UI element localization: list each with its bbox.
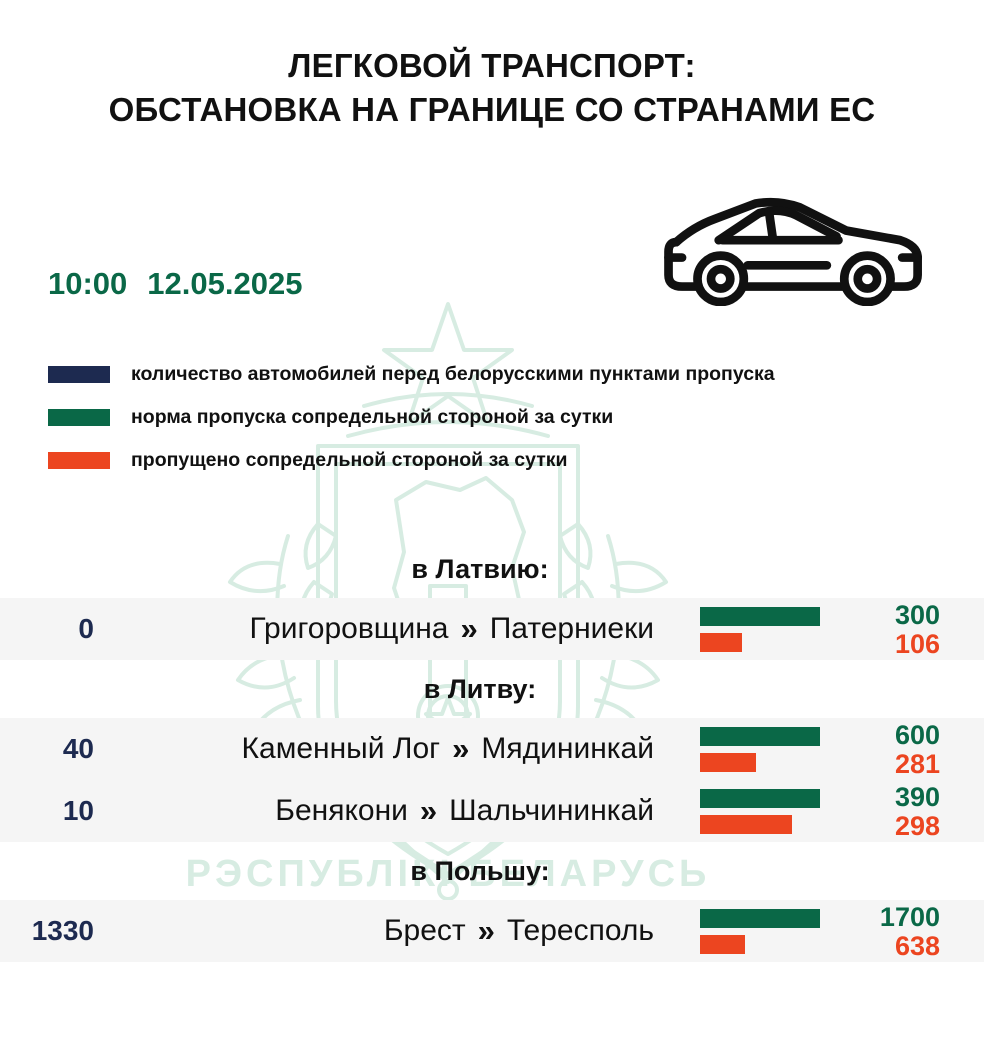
norm-value: 300 [860, 601, 940, 629]
passed-value: 638 [860, 932, 940, 960]
car-icon [655, 186, 935, 306]
route-to: Шальчининкай [449, 794, 654, 828]
passed-bar [700, 815, 792, 834]
row-bars [700, 789, 860, 834]
row-values: 1700638 [860, 903, 984, 960]
passed-value: 281 [860, 750, 940, 778]
passed-bar [700, 633, 742, 652]
double-chevron-right-icon: » [460, 612, 477, 646]
timestamp: 10:0012.05.2025 [48, 266, 302, 302]
timestamp-date: 12.05.2025 [147, 266, 302, 301]
route-from: Бенякони [275, 794, 408, 828]
norm-bar [700, 909, 820, 928]
passed-value: 106 [860, 630, 940, 658]
section-header: в Польшу: [0, 842, 984, 900]
page-title: ЛЕГКОВОЙ ТРАНСПОРТ: ОБСТАНОВКА НА ГРАНИЦ… [0, 44, 984, 132]
route-to: Патерниеки [490, 612, 654, 646]
route: Каменный Лог»Мядининкай [100, 732, 700, 766]
norm-value: 1700 [860, 903, 940, 931]
passed-bar [700, 753, 756, 772]
queue-count: 1330 [0, 915, 100, 947]
double-chevron-right-icon: » [478, 914, 495, 948]
passed-bar [700, 935, 745, 954]
legend-label: количество автомобилей перед белорусским… [131, 363, 775, 385]
legend-item: пропущено сопредельной стороной за сутки [48, 441, 948, 479]
double-chevron-right-icon: » [420, 794, 437, 828]
legend-item: количество автомобилей перед белорусским… [48, 355, 948, 393]
route-from: Брест [384, 914, 466, 948]
queue-count: 0 [0, 613, 100, 645]
row-values: 600281 [860, 721, 984, 778]
legend-item: норма пропуска сопредельной стороной за … [48, 398, 948, 436]
legend-swatch [48, 452, 110, 469]
queue-count: 40 [0, 733, 100, 765]
route-from: Каменный Лог [242, 732, 441, 766]
queue-count: 10 [0, 795, 100, 827]
norm-value: 390 [860, 783, 940, 811]
route: Григоровщина»Патерниеки [100, 612, 700, 646]
section-header: в Литву: [0, 660, 984, 718]
norm-bar [700, 727, 820, 746]
legend-label: пропущено сопредельной стороной за сутки [131, 449, 568, 471]
page-title-line-1: ЛЕГКОВОЙ ТРАНСПОРТ: [0, 44, 984, 88]
row-values: 300106 [860, 601, 984, 658]
double-chevron-right-icon: » [452, 732, 469, 766]
row-bars [700, 909, 860, 954]
row-values: 390298 [860, 783, 984, 840]
legend-swatch [48, 409, 110, 426]
page-title-line-2: ОБСТАНОВКА НА ГРАНИЦЕ СО СТРАНАМИ ЕС [0, 88, 984, 132]
norm-bar [700, 789, 820, 808]
route: Брест»Тересполь [100, 914, 700, 948]
row-bars [700, 607, 860, 652]
legend-swatch [48, 366, 110, 383]
route-to: Тересполь [507, 914, 654, 948]
row-bars [700, 727, 860, 772]
legend-label: норма пропуска сопредельной стороной за … [131, 406, 613, 428]
route: Бенякони»Шальчининкай [100, 794, 700, 828]
table-row: 0Григоровщина»Патерниеки300106 [0, 598, 984, 660]
norm-bar [700, 607, 820, 626]
border-crossings-table: в Латвию:0Григоровщина»Патерниеки300106в… [0, 540, 984, 962]
legend: количество автомобилей перед белорусским… [48, 355, 948, 484]
route-from: Григоровщина [250, 612, 449, 646]
table-row: 1330Брест»Тересполь1700638 [0, 900, 984, 962]
norm-value: 600 [860, 721, 940, 749]
route-to: Мядининкай [481, 732, 654, 766]
timestamp-time: 10:00 [48, 266, 127, 301]
passed-value: 298 [860, 812, 940, 840]
table-row: 10Бенякони»Шальчининкай390298 [0, 780, 984, 842]
section-header: в Латвию: [0, 540, 984, 598]
table-row: 40Каменный Лог»Мядининкай600281 [0, 718, 984, 780]
